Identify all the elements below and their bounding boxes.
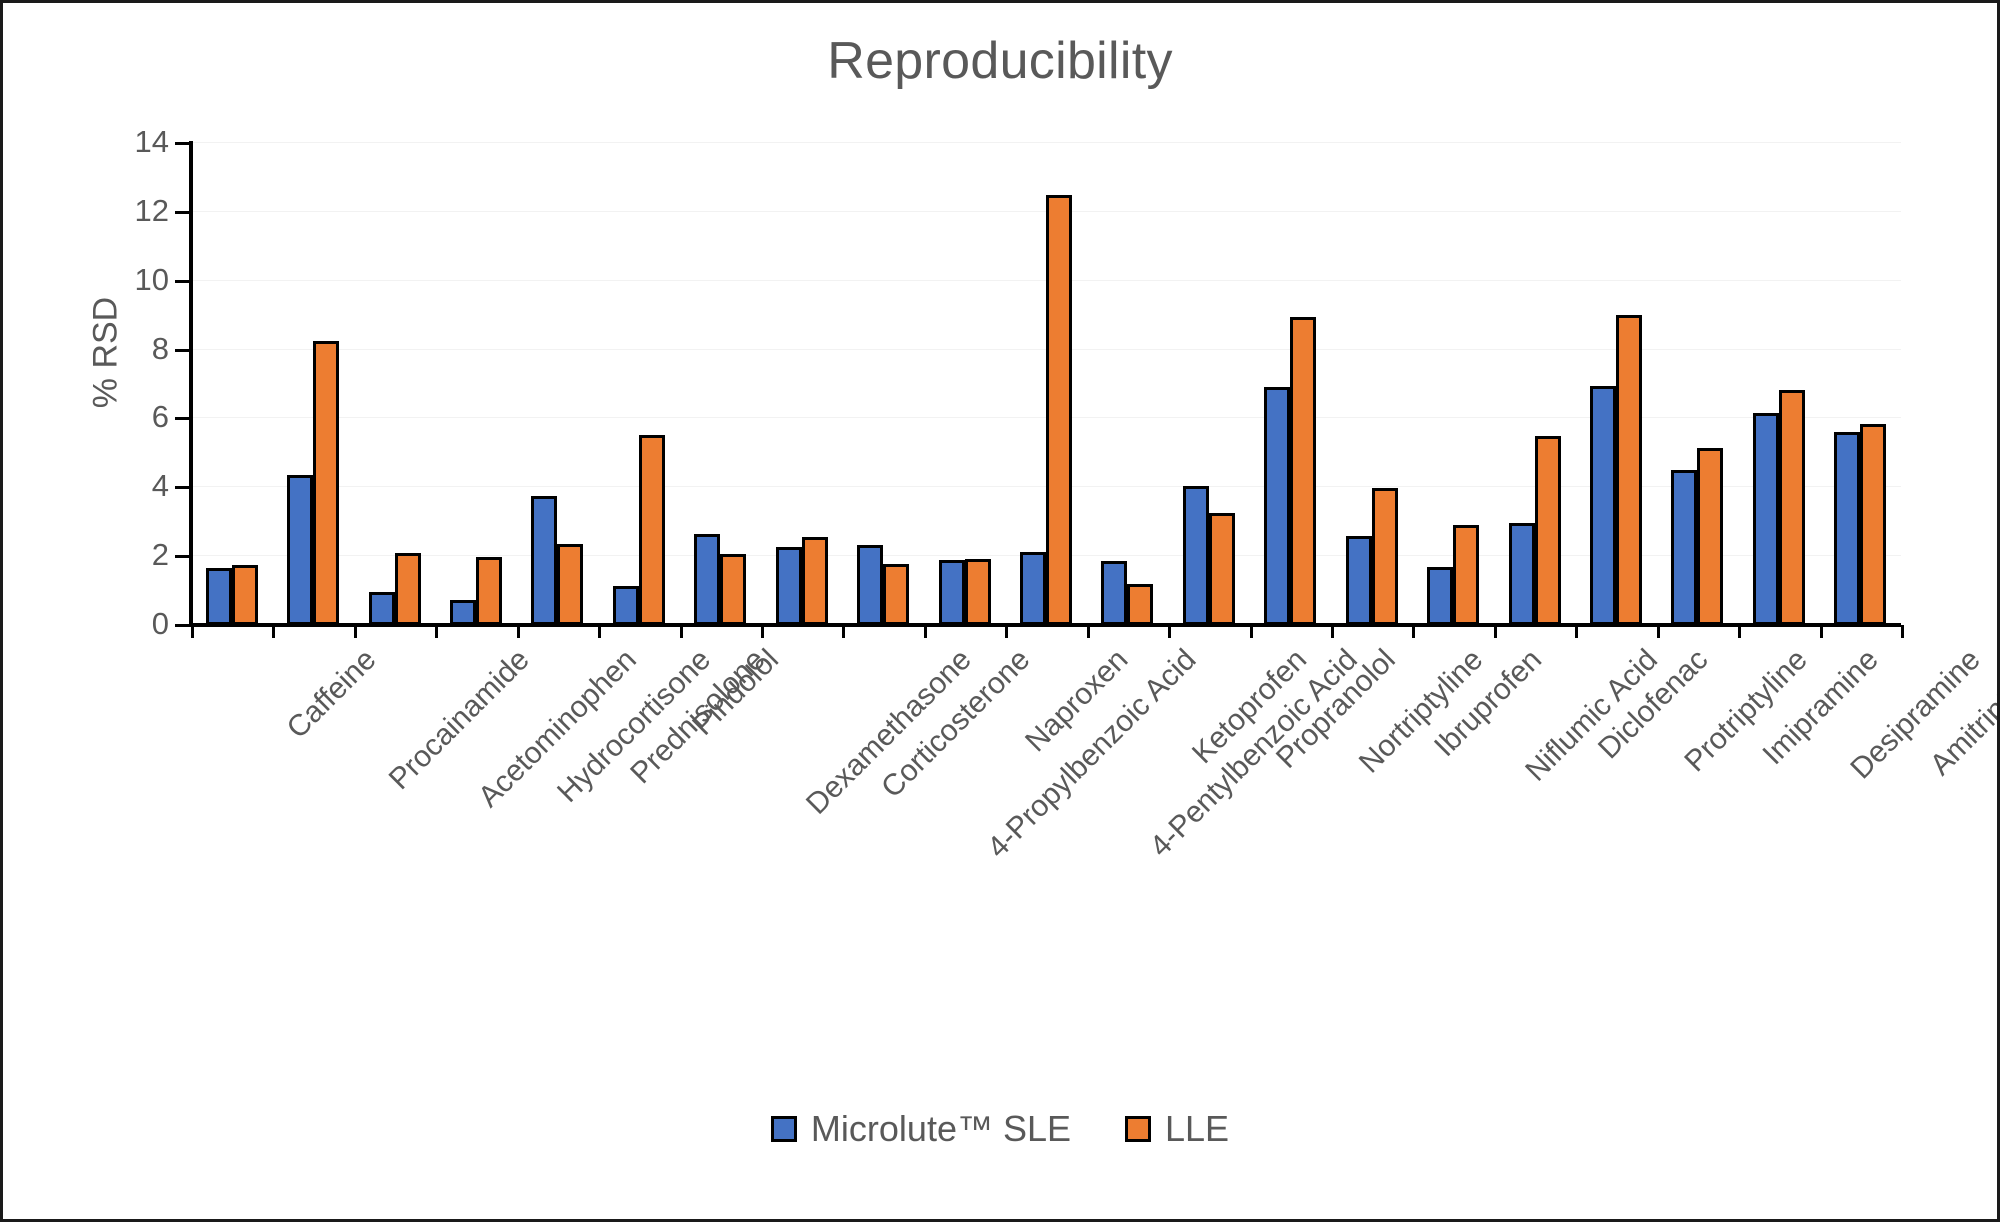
bar-group bbox=[1494, 143, 1575, 625]
x-tick-mark bbox=[354, 625, 357, 638]
y-tick-mark bbox=[175, 555, 191, 558]
x-tick-mark bbox=[272, 625, 275, 638]
chart-title: Reproducibility bbox=[3, 31, 1997, 91]
x-tick-mark bbox=[761, 625, 764, 638]
x-tick-mark bbox=[191, 625, 194, 638]
legend-swatch-icon bbox=[771, 1116, 797, 1142]
bar[interactable] bbox=[476, 557, 502, 625]
plot-area bbox=[191, 143, 1901, 625]
y-tick-label: 2 bbox=[109, 537, 169, 573]
bar[interactable] bbox=[313, 341, 339, 625]
bar[interactable] bbox=[1101, 561, 1127, 625]
x-tick-mark bbox=[1168, 625, 1171, 638]
x-tick-mark bbox=[1575, 625, 1578, 638]
x-tick-mark bbox=[598, 625, 601, 638]
bar[interactable] bbox=[1590, 386, 1616, 625]
bar[interactable] bbox=[720, 554, 746, 625]
bar-group bbox=[1575, 143, 1656, 625]
y-tick-label: 6 bbox=[109, 399, 169, 435]
x-tick-mark bbox=[1820, 625, 1823, 638]
bar-group bbox=[1412, 143, 1493, 625]
x-tick-label: Caffeine bbox=[280, 643, 383, 746]
bar[interactable] bbox=[883, 564, 909, 625]
bar[interactable] bbox=[1020, 552, 1046, 625]
y-tick-mark bbox=[175, 624, 191, 627]
bar[interactable] bbox=[369, 592, 395, 625]
bar[interactable] bbox=[802, 537, 828, 625]
bar[interactable] bbox=[1264, 387, 1290, 625]
bar[interactable] bbox=[939, 560, 965, 625]
bar[interactable] bbox=[1209, 513, 1235, 625]
x-tick-mark bbox=[1738, 625, 1741, 638]
bar[interactable] bbox=[613, 586, 639, 625]
bar[interactable] bbox=[857, 545, 883, 625]
bar[interactable] bbox=[1046, 195, 1072, 625]
y-tick-mark bbox=[175, 142, 191, 145]
bar-group bbox=[1820, 143, 1901, 625]
bar-group bbox=[1168, 143, 1249, 625]
legend-label: Microlute™ SLE bbox=[811, 1108, 1071, 1150]
y-axis-line bbox=[189, 141, 193, 627]
y-axis-tick-labels: 02468101214 bbox=[103, 3, 169, 1222]
bar-group bbox=[517, 143, 598, 625]
chart-page: Reproducibility % RSD 02468101214 Caffei… bbox=[0, 0, 2000, 1222]
bar[interactable] bbox=[639, 435, 665, 625]
bar[interactable] bbox=[1860, 424, 1886, 625]
bar-group bbox=[435, 143, 516, 625]
y-tick-label: 12 bbox=[109, 193, 169, 229]
legend-swatch-icon bbox=[1125, 1116, 1151, 1142]
bar[interactable] bbox=[1183, 486, 1209, 625]
bar-group bbox=[1657, 143, 1738, 625]
x-tick-mark bbox=[1331, 625, 1334, 638]
bar-group bbox=[1331, 143, 1412, 625]
bar[interactable] bbox=[1779, 390, 1805, 625]
bar[interactable] bbox=[1535, 436, 1561, 625]
y-tick-mark bbox=[175, 349, 191, 352]
x-tick-mark bbox=[1494, 625, 1497, 638]
bar[interactable] bbox=[450, 600, 476, 625]
bar[interactable] bbox=[1346, 536, 1372, 626]
bar-group bbox=[1738, 143, 1819, 625]
bar[interactable] bbox=[531, 496, 557, 625]
bar-group bbox=[598, 143, 679, 625]
bar-group bbox=[1005, 143, 1086, 625]
bar[interactable] bbox=[1290, 317, 1316, 625]
bar[interactable] bbox=[965, 559, 991, 625]
bar[interactable] bbox=[1127, 584, 1153, 625]
bar-group bbox=[1087, 143, 1168, 625]
x-tick-label-text: Caffeine bbox=[280, 643, 383, 746]
bar[interactable] bbox=[1697, 448, 1723, 625]
x-tick-mark bbox=[1412, 625, 1415, 638]
bar[interactable] bbox=[287, 475, 313, 625]
x-tick-mark bbox=[1657, 625, 1660, 638]
bar-group bbox=[680, 143, 761, 625]
bar-group bbox=[924, 143, 1005, 625]
bar[interactable] bbox=[1834, 432, 1860, 625]
bar[interactable] bbox=[776, 547, 802, 625]
bar[interactable] bbox=[232, 565, 258, 625]
bar[interactable] bbox=[1372, 488, 1398, 625]
chart-legend: Microlute™ SLELLE bbox=[3, 1108, 1997, 1150]
y-tick-label: 14 bbox=[109, 124, 169, 160]
x-tick-mark bbox=[924, 625, 927, 638]
y-tick-mark bbox=[175, 280, 191, 283]
legend-item[interactable]: Microlute™ SLE bbox=[771, 1108, 1071, 1150]
y-tick-mark bbox=[175, 417, 191, 420]
legend-label: LLE bbox=[1165, 1108, 1229, 1150]
x-tick-mark bbox=[1005, 625, 1008, 638]
x-tick-mark bbox=[1901, 625, 1904, 638]
bar-group bbox=[842, 143, 923, 625]
bar-group bbox=[761, 143, 842, 625]
bar-group bbox=[191, 143, 272, 625]
x-tick-mark bbox=[1250, 625, 1253, 638]
bar[interactable] bbox=[557, 544, 583, 625]
bar[interactable] bbox=[395, 553, 421, 625]
bar-group bbox=[272, 143, 353, 625]
bar[interactable] bbox=[1753, 413, 1779, 625]
bar[interactable] bbox=[1427, 567, 1453, 625]
bar[interactable] bbox=[1616, 315, 1642, 625]
y-tick-label: 8 bbox=[109, 331, 169, 367]
x-tick-mark bbox=[1087, 625, 1090, 638]
y-tick-mark bbox=[175, 211, 191, 214]
x-tick-mark bbox=[842, 625, 845, 638]
x-tick-mark bbox=[517, 625, 520, 638]
y-tick-label: 0 bbox=[109, 606, 169, 642]
bar[interactable] bbox=[1671, 470, 1697, 625]
bar[interactable] bbox=[1453, 525, 1479, 625]
y-tick-label: 4 bbox=[109, 468, 169, 504]
bar[interactable] bbox=[206, 568, 232, 625]
x-tick-mark bbox=[435, 625, 438, 638]
legend-item[interactable]: LLE bbox=[1125, 1108, 1229, 1150]
bar[interactable] bbox=[694, 534, 720, 625]
bar[interactable] bbox=[1509, 523, 1535, 625]
x-axis-line bbox=[189, 623, 1901, 627]
x-tick-mark bbox=[680, 625, 683, 638]
bar-group bbox=[1250, 143, 1331, 625]
x-axis-tick-labels: CaffeineProcainamideAcetominophenHydroco… bbox=[191, 643, 1901, 903]
y-tick-label: 10 bbox=[109, 262, 169, 298]
y-tick-mark bbox=[175, 486, 191, 489]
bar-group bbox=[354, 143, 435, 625]
